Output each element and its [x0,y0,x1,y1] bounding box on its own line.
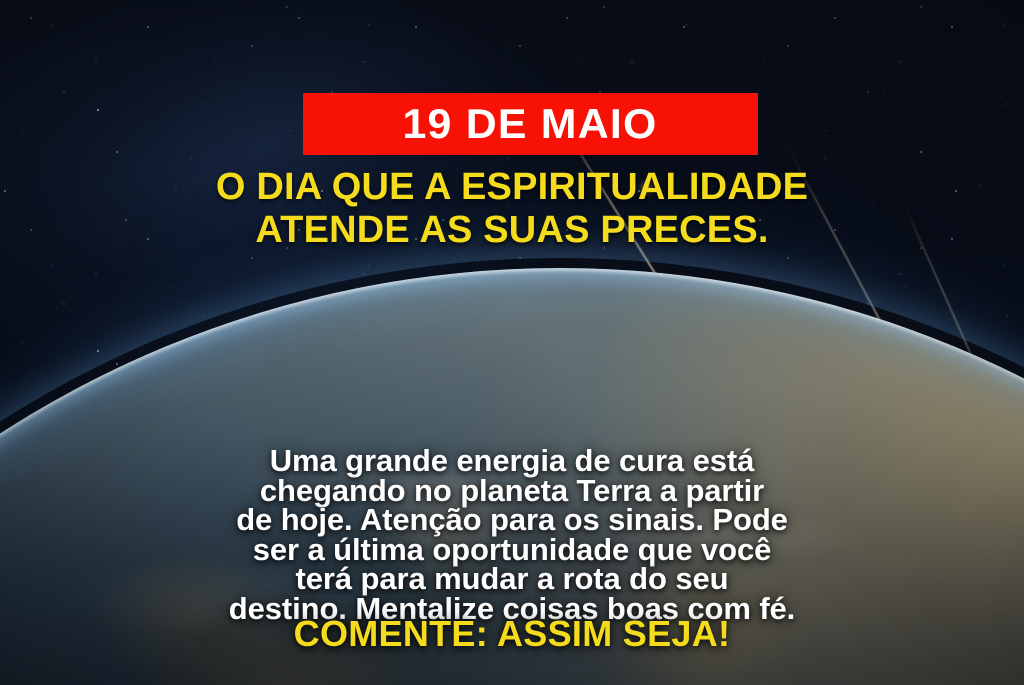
poster-canvas: 19 DE MAIO O DIA QUE A ESPIRITUALIDADE A… [0,0,1024,685]
body-line-2: chegando no planeta Terra a partir [50,476,974,506]
date-banner: 19 DE MAIO [303,93,758,155]
poster-content: 19 DE MAIO O DIA QUE A ESPIRITUALIDADE A… [0,0,1024,685]
call-to-action-text: COMENTE: ASSIM SEJA! [0,613,1024,655]
body-line-5: terá para mudar a rota do seu [50,564,974,594]
headline: O DIA QUE A ESPIRITUALIDADE ATENDE AS SU… [0,166,1024,251]
date-banner-label: 19 DE MAIO [403,103,658,145]
headline-line-2: ATENDE AS SUAS PRECES. [0,209,1024,252]
body-line-4: ser a última oportunidade que você [50,535,974,565]
headline-line-1: O DIA QUE A ESPIRITUALIDADE [0,166,1024,209]
body-paragraph: Uma grande energia de cura está chegando… [50,446,974,623]
body-line-3: de hoje. Atenção para os sinais. Pode [50,505,974,535]
body-line-1: Uma grande energia de cura está [50,446,974,476]
